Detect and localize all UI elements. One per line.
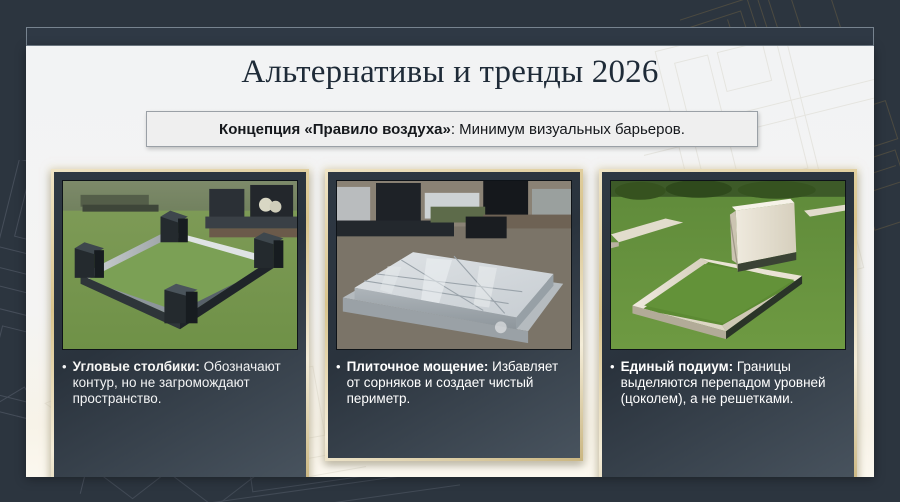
caption-single-podium: • Единый подиум: Границы выделяются пере… <box>610 359 846 408</box>
content-panel: Альтернативы и тренды 2026 Концепция «Пр… <box>26 46 874 477</box>
caption-corner-posts: • Угловые столбики: Обозначают контур, н… <box>62 359 298 408</box>
photo-single-podium <box>610 180 846 350</box>
caption-title: Угловые столбики: <box>73 359 200 374</box>
bullet-icon: • <box>336 359 341 375</box>
slide-canvas: Альтернативы и тренды 2026 Концепция «Пр… <box>0 0 900 502</box>
card-corner-posts[interactable]: • Угловые столбики: Обозначают контур, н… <box>51 169 309 477</box>
photo-corner-posts <box>62 180 298 350</box>
caption-title: Единый подиум: <box>621 359 734 374</box>
page-title: Альтернативы и тренды 2026 <box>26 54 874 91</box>
card-single-podium[interactable]: • Единый подиум: Границы выделяются пере… <box>599 169 857 477</box>
caption-tiled-paving: • Плиточное мощение: Избавляет от сорняк… <box>336 359 572 408</box>
concept-banner-rest: : Минимум визуальных барьеров. <box>451 121 685 138</box>
concept-banner: Концепция «Правило воздуха»: Минимум виз… <box>146 111 758 147</box>
bullet-icon: • <box>62 359 67 375</box>
card-tiled-paving[interactable]: • Плиточное мощение: Избавляет от сорняк… <box>325 169 583 461</box>
caption-title: Плиточное мощение: <box>347 359 489 374</box>
panel-header-bar <box>26 27 874 46</box>
concept-banner-lead: Концепция «Правило воздуха» <box>219 121 451 138</box>
photo-tiled-paving <box>336 180 572 350</box>
top-caption-strip <box>300 9 600 23</box>
bullet-icon: • <box>610 359 615 375</box>
